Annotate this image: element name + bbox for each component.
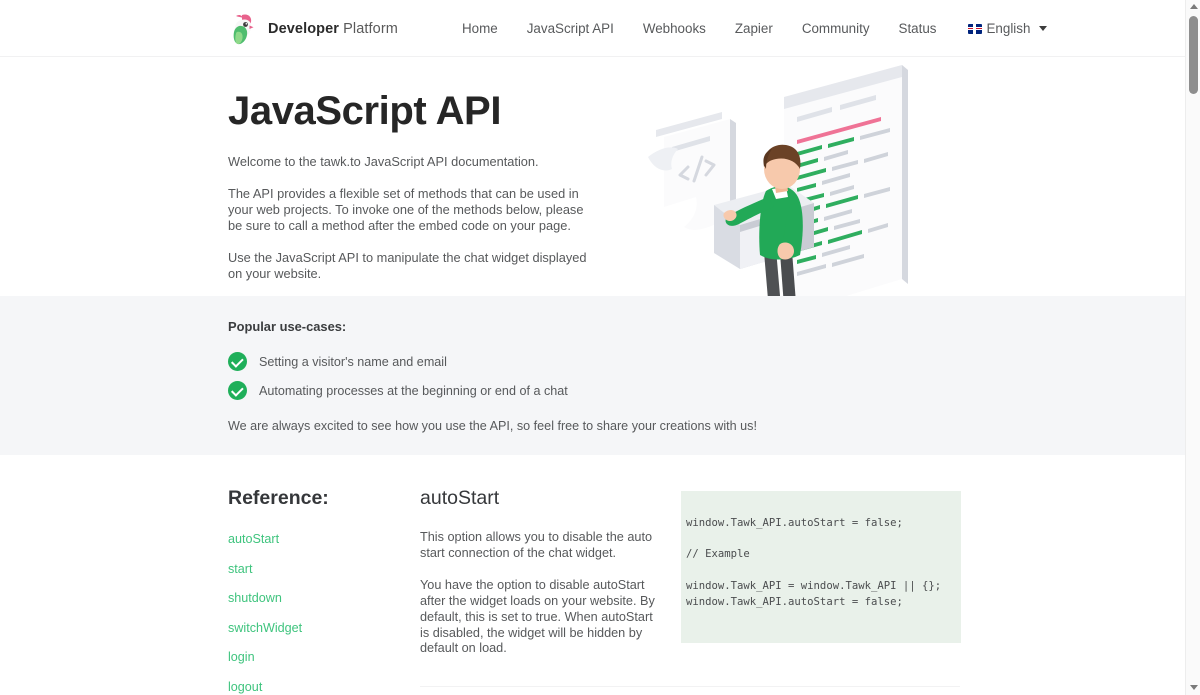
language-label[interactable]: English [987, 21, 1031, 36]
brand-logo[interactable]: Developer Platform [228, 12, 398, 46]
page-title: JavaScript API [228, 89, 588, 133]
site-header: Developer Platform Home JavaScript API W… [0, 0, 1185, 57]
hero-section: JavaScript API Welcome to the tawk.to Ja… [0, 57, 1185, 296]
use-cases-band: Popular use-cases: Setting a visitor's n… [0, 296, 1185, 455]
use-case-label: Setting a visitor's name and email [259, 355, 447, 369]
brand-light: Platform [343, 21, 398, 37]
reference-link-shutdown[interactable]: shutdown [228, 591, 282, 605]
nav-item-status[interactable]: Status [899, 21, 937, 36]
reference-article: autoStart This option allows you to disa… [420, 487, 663, 673]
use-case-item: Automating processes at the beginning or… [228, 381, 757, 400]
list-item: login [228, 648, 398, 666]
nav-item-home[interactable]: Home [462, 21, 498, 36]
list-item: shutdown [228, 589, 398, 607]
nav-item-community[interactable]: Community [802, 21, 870, 36]
list-item: start [228, 560, 398, 578]
check-circle-icon [228, 381, 247, 400]
reference-heading: Reference: [228, 487, 398, 510]
use-cases-title: Popular use-cases: [228, 319, 757, 334]
list-item: autoStart [228, 530, 398, 548]
scrollbar-thumb[interactable] [1189, 16, 1198, 94]
page-scrollbar[interactable] [1185, 0, 1200, 695]
page-root: Developer Platform Home JavaScript API W… [0, 0, 1200, 695]
hero-paragraph-1: Welcome to the tawk.to JavaScript API do… [228, 154, 588, 170]
parrot-logo-icon [228, 12, 258, 46]
reference-link-login[interactable]: login [228, 650, 255, 664]
brand-text: Developer Platform [268, 21, 398, 37]
hero-paragraph-2: The API provides a flexible set of metho… [228, 186, 588, 234]
code-sample-block: window.Tawk_API.autoStart = false; // Ex… [681, 491, 961, 643]
check-circle-icon [228, 352, 247, 371]
nav-item-javascript-api[interactable]: JavaScript API [527, 21, 614, 36]
reference-link-start[interactable]: start [228, 562, 253, 576]
scroll-down-arrow-icon[interactable] [1186, 681, 1200, 695]
content-divider [420, 686, 960, 687]
scroll-up-arrow-icon[interactable] [1186, 0, 1200, 14]
hero-text-block: JavaScript API Welcome to the tawk.to Ja… [228, 89, 588, 296]
use-case-item: Setting a visitor's name and email [228, 352, 757, 371]
list-item: switchWidget [228, 619, 398, 637]
reference-link-logout[interactable]: logout [228, 680, 262, 694]
uk-flag-icon [968, 24, 982, 34]
reference-sidebar: Reference: autoStart start shutdown swit… [228, 487, 398, 695]
nav-item-zapier[interactable]: Zapier [735, 21, 773, 36]
language-selector[interactable]: English [968, 21, 1048, 36]
use-cases-footer: We are always excited to see how you use… [228, 419, 757, 433]
use-case-label: Automating processes at the beginning or… [259, 384, 568, 398]
use-cases-content: Popular use-cases: Setting a visitor's n… [228, 319, 757, 433]
chevron-down-icon [1039, 26, 1047, 31]
reference-link-switchwidget[interactable]: switchWidget [228, 621, 302, 635]
article-paragraph-1: This option allows you to disable the au… [420, 530, 663, 562]
article-paragraph-2: You have the option to disable autoStart… [420, 578, 663, 658]
list-item: logout [228, 678, 398, 695]
nav-item-webhooks[interactable]: Webhooks [643, 21, 706, 36]
developer-isometric-illustration [636, 57, 936, 296]
article-title: autoStart [420, 487, 663, 510]
primary-nav: Home JavaScript API Webhooks Zapier Comm… [462, 0, 1047, 57]
reference-link-list: autoStart start shutdown switchWidget lo… [228, 530, 398, 695]
reference-link-autostart[interactable]: autoStart [228, 532, 279, 546]
hero-paragraph-3: Use the JavaScript API to manipulate the… [228, 250, 588, 282]
reference-section: Reference: autoStart start shutdown swit… [0, 455, 1185, 695]
code-sample-text: window.Tawk_API.autoStart = false; // Ex… [686, 516, 961, 610]
brand-strong: Developer [268, 21, 339, 37]
